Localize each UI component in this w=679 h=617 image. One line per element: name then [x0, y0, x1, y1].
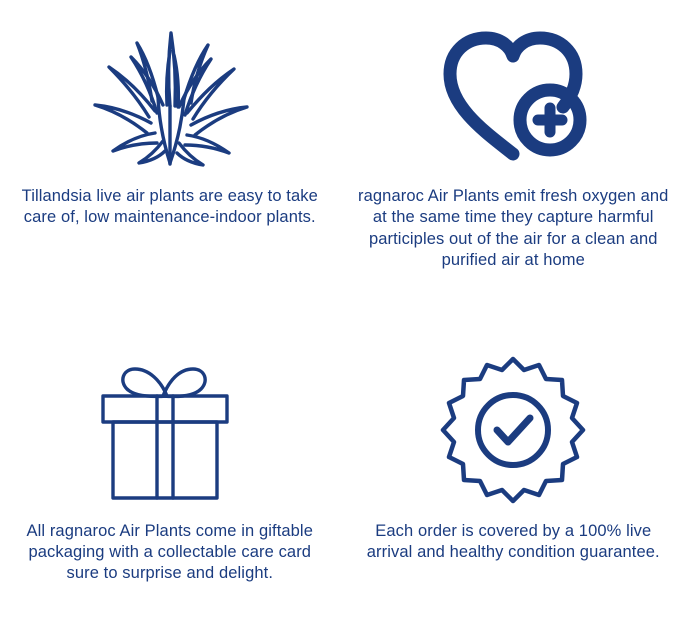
heart-plus-icon: [428, 6, 598, 186]
feature-cell-air-purifying: ragnaroc Air Plants emit fresh oxygen an…: [340, 0, 679, 309]
guarantee-badge-check-icon: [433, 341, 593, 521]
feature-cell-guarantee: Each order is covered by a 100% live arr…: [340, 309, 679, 617]
feature-grid: Tillandsia live air plants are easy to t…: [0, 0, 679, 617]
feature-cell-air-plant: Tillandsia live air plants are easy to t…: [0, 0, 340, 309]
air-plant-icon: [75, 6, 265, 186]
gift-box-icon: [75, 341, 265, 521]
feature-cell-gift-packaging: All ragnaroc Air Plants come in giftable…: [0, 309, 340, 617]
feature-caption: Tillandsia live air plants are easy to t…: [14, 186, 326, 229]
feature-caption: All ragnaroc Air Plants come in giftable…: [20, 521, 320, 585]
feature-caption: Each order is covered by a 100% live arr…: [361, 521, 666, 564]
feature-caption: ragnaroc Air Plants emit fresh oxygen an…: [354, 186, 672, 272]
